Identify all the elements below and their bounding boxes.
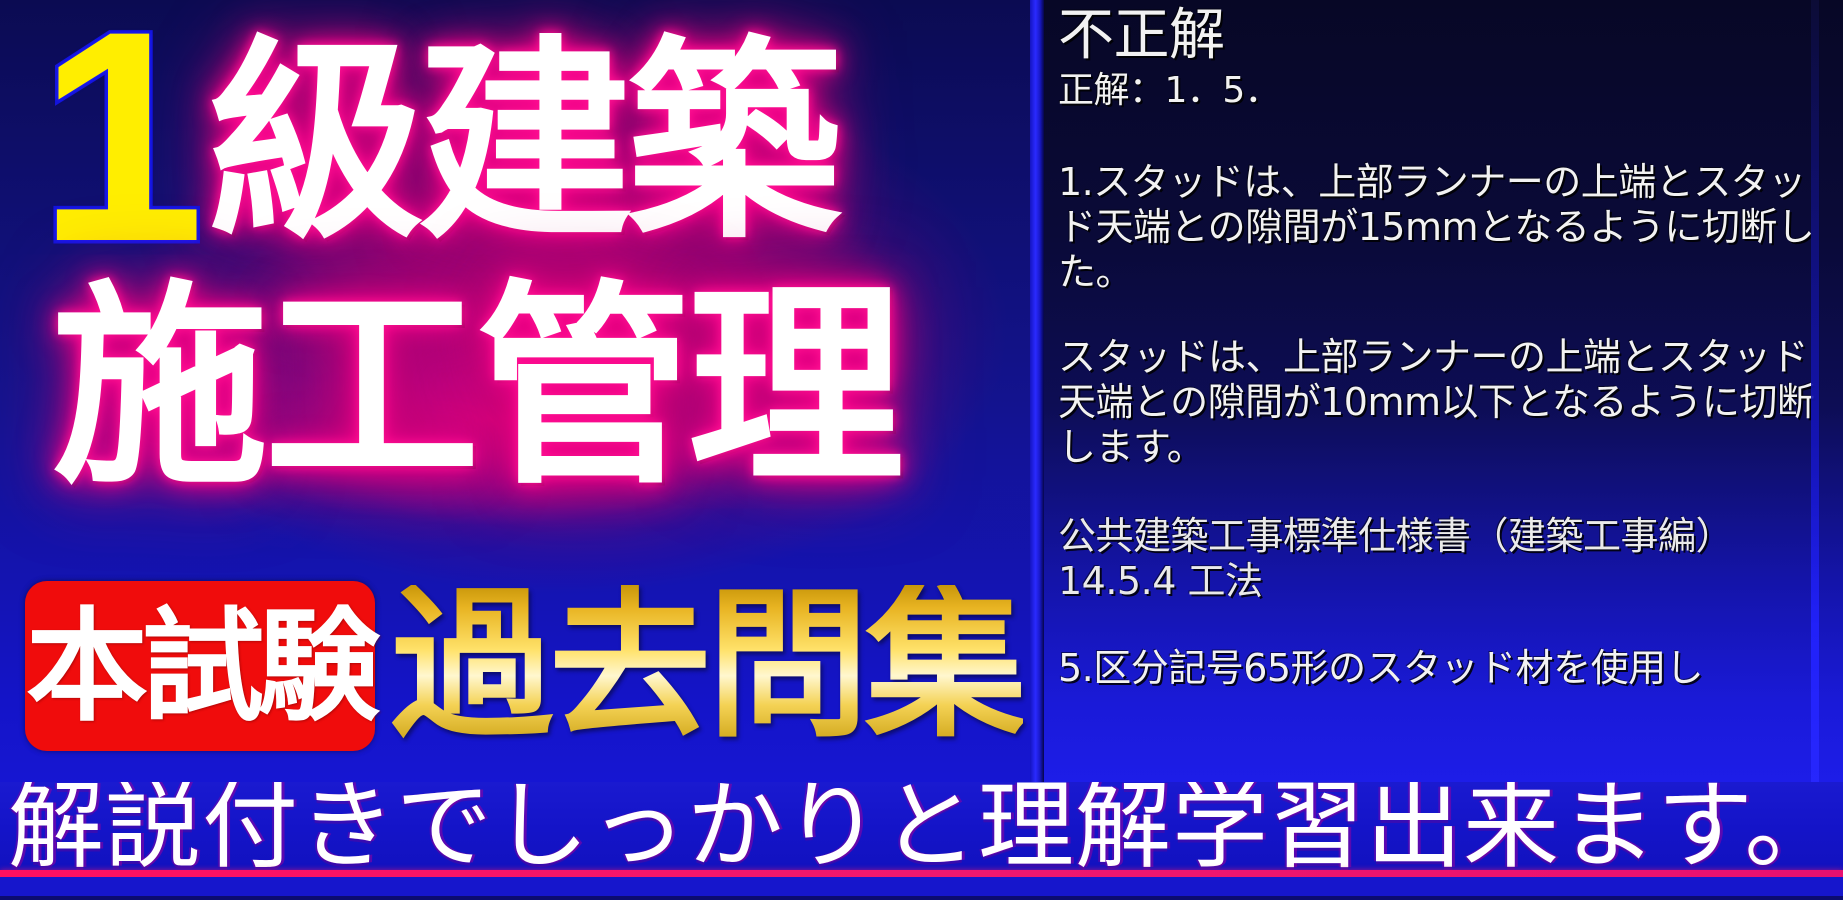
- choice-one-text: 1.スタッドは、上部ランナーの上端とスタッド天端との隙間が15mmとなるように切…: [1058, 160, 1829, 295]
- title-row-three: 本試験 過去問集: [25, 580, 1023, 752]
- grade-number: 1: [38, 14, 197, 259]
- title-row-one: 1 級建築: [38, 8, 836, 276]
- video-thumbnail-screen: 1 級建築 施工管理 本試験 過去問集 不正解 正解：1．5． 1.スタッドは、…: [0, 0, 1843, 900]
- result-heading: 不正解: [1058, 6, 1829, 66]
- reference-text: 公共建築工事標準仕様書（建築工事編）14.5.4 工法: [1058, 514, 1829, 604]
- correct-answer-label: 正解：1．5．: [1058, 68, 1829, 114]
- bottom-strip: [0, 896, 1843, 900]
- title-line-one-label: 級建築: [209, 35, 836, 250]
- choice-five-text: 5.区分記号65形のスタッド材を使用し: [1058, 646, 1829, 691]
- exam-badge-label: 本試験: [26, 605, 374, 727]
- past-questions-label: 過去問集: [391, 585, 1023, 747]
- title-line-two-label: 施工管理: [52, 280, 900, 496]
- caption-banner: 解説付きでしっかりと理解学習出来ます。: [0, 782, 1843, 900]
- thumbnail-left-panel: 1 級建築 施工管理 本試験 過去問集: [0, 0, 1040, 900]
- panel-divider: [1030, 0, 1044, 782]
- title-row-two: 施工管理: [52, 278, 900, 498]
- exam-badge: 本試験: [25, 581, 375, 751]
- answer-explanation-panel: 不正解 正解：1．5． 1.スタッドは、上部ランナーの上端とスタッド天端との隙間…: [1044, 0, 1843, 782]
- caption-text: 解説付きでしっかりと理解学習出来ます。: [8, 782, 1841, 876]
- explanation-text: スタッドは、上部ランナーの上端とスタッド天端との隙間が10mm以下となるように切…: [1058, 335, 1829, 470]
- caption-underline: [0, 870, 1843, 877]
- panel-right-edge-line: [1811, 0, 1819, 782]
